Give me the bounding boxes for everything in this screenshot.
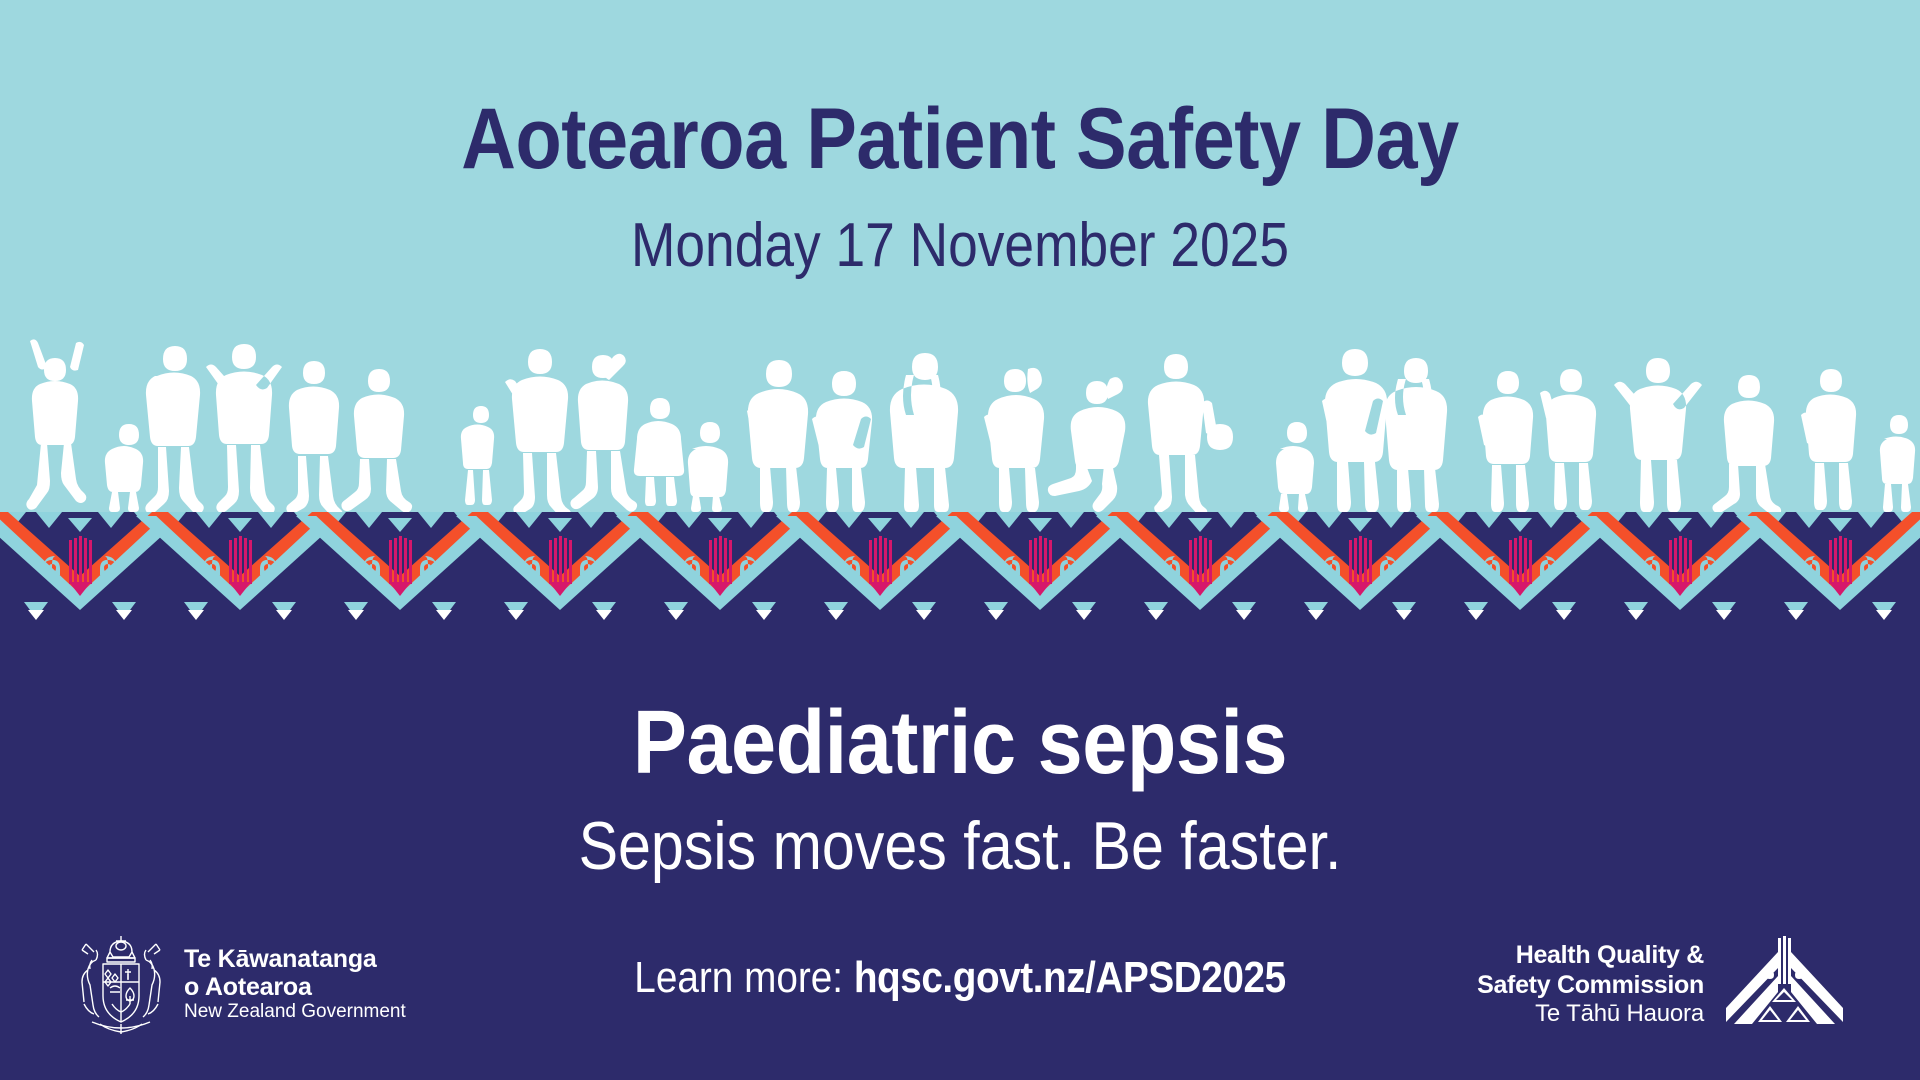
hqsc-line-1: Health Quality & <box>1516 941 1704 969</box>
maori-pattern-band <box>0 512 1920 620</box>
hqsc-wordmark: Health Quality & Safety Commission Te Tā… <box>1477 941 1704 1028</box>
page-subtitle: Monday 17 November 2025 <box>134 215 1785 277</box>
hqsc-line-3: Te Tāhū Hauora <box>1535 1000 1704 1027</box>
hqsc-line-2: Safety Commission <box>1477 971 1704 999</box>
children-silhouette-frieze <box>0 337 1920 512</box>
hqsc-logo: Health Quality & Safety Commission Te Tā… <box>1477 936 1848 1034</box>
nzgov-line-1: Te Kāwanatanga <box>184 945 377 973</box>
page-title: Aotearoa Patient Safety Day <box>115 96 1805 182</box>
nz-government-logo: Te Kāwanatanga o Aotearoa New Zealand Go… <box>72 930 406 1038</box>
campaign-url[interactable]: hqsc.govt.nz/APSD2025 <box>854 953 1286 1002</box>
learn-more-label: Learn more: <box>634 953 843 1002</box>
main-band: Paediatric sepsis Sepsis moves fast. Be … <box>0 620 1920 1080</box>
nz-coat-of-arms-icon <box>72 930 170 1038</box>
wharenui-gable-icon <box>1720 936 1848 1034</box>
nzgov-line-3: New Zealand Government <box>184 1001 406 1022</box>
nzgov-line-2: o Aotearoa <box>184 973 312 1001</box>
campaign-tagline: Sepsis moves fast. Be faster. <box>125 812 1795 880</box>
nz-government-wordmark: Te Kāwanatanga o Aotearoa New Zealand Go… <box>184 945 406 1022</box>
header-band: Aotearoa Patient Safety Day Monday 17 No… <box>0 0 1920 512</box>
campaign-topic: Paediatric sepsis <box>96 698 1824 788</box>
poster: Aotearoa Patient Safety Day Monday 17 No… <box>0 0 1920 1080</box>
